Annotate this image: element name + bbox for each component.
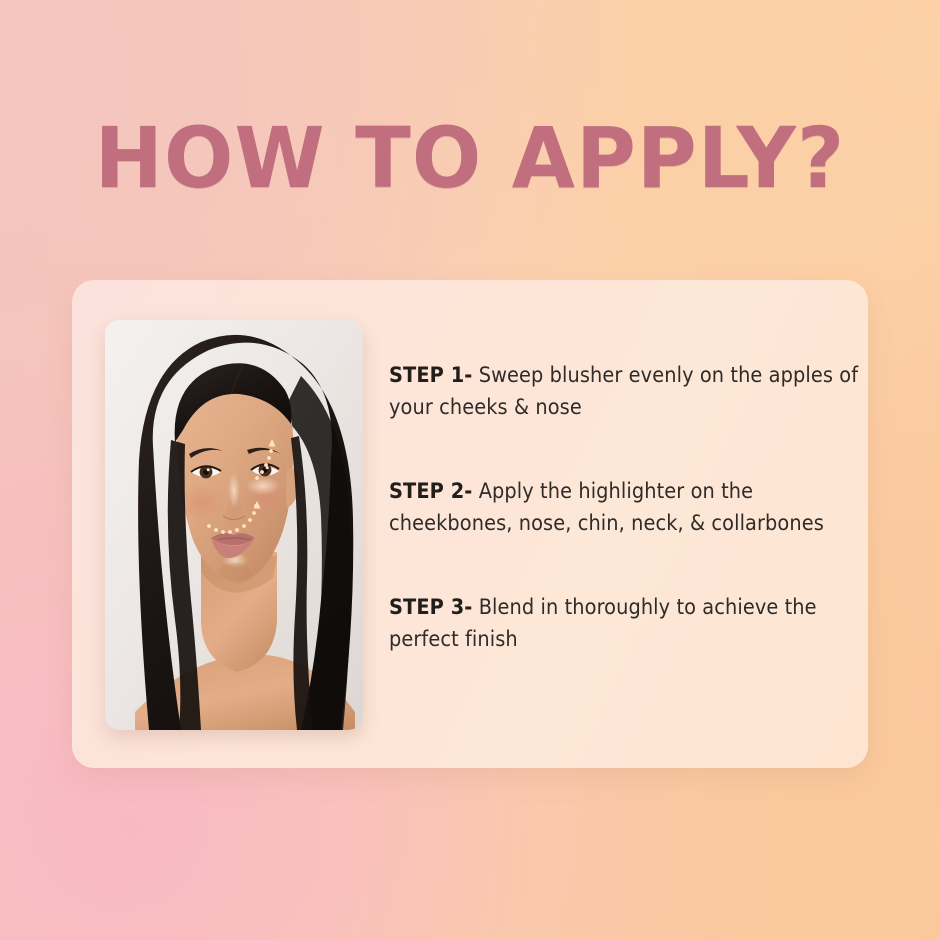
model-photo: [105, 320, 363, 730]
step-2-label: STEP 2-: [389, 479, 472, 504]
poster-canvas: HOW TO APPLY?: [0, 0, 940, 940]
steps-list: STEP 1- Sweep blusher evenly on the appl…: [389, 360, 859, 656]
list-item: STEP 3- Blend in thoroughly to achieve t…: [389, 592, 859, 656]
list-item: STEP 2- Apply the highlighter on the che…: [389, 476, 859, 540]
step-1-label: STEP 1-: [389, 363, 472, 388]
list-item: STEP 1- Sweep blusher evenly on the appl…: [389, 360, 859, 424]
page-title: HOW TO APPLY?: [0, 112, 940, 204]
step-3-label: STEP 3-: [389, 595, 472, 620]
